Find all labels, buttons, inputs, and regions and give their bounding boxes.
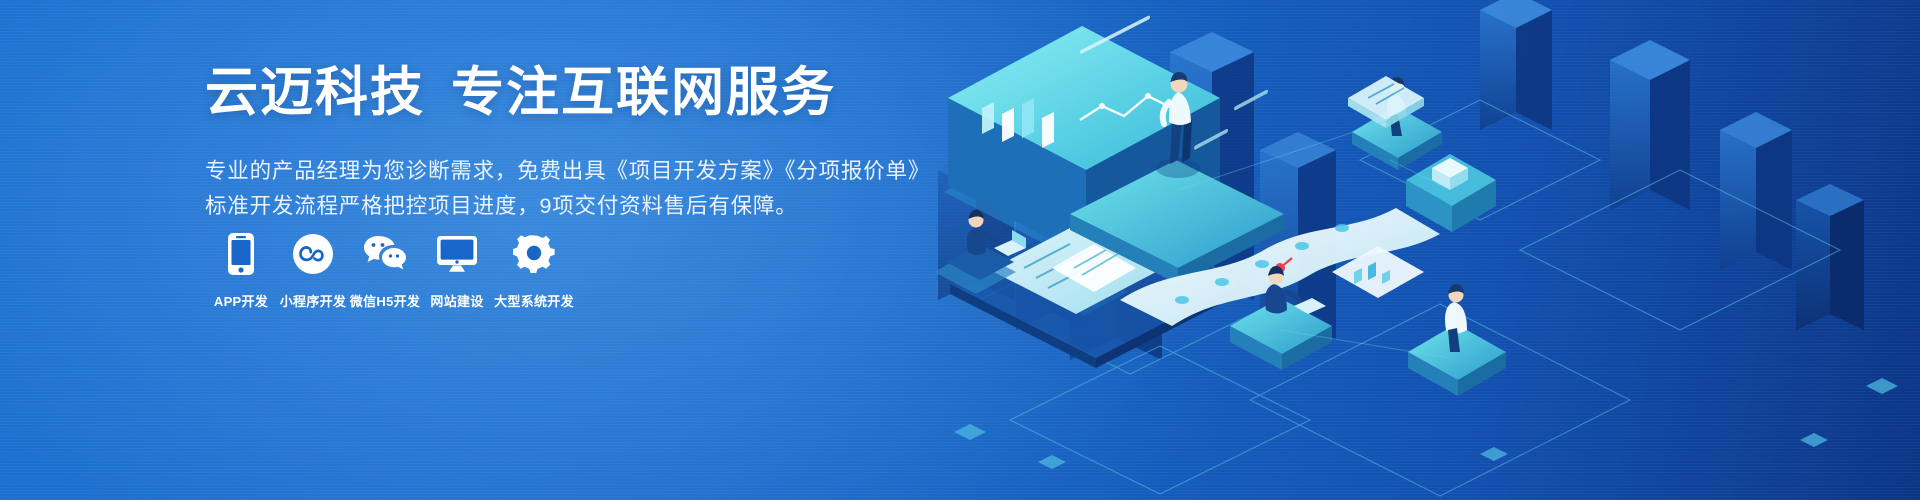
wechat-chat-bubbles-icon <box>363 232 407 276</box>
service-label: 网站建设 <box>430 291 483 310</box>
headline-brand: 云迈科技 <box>205 63 425 122</box>
isometric-tech-illustration <box>920 0 1920 500</box>
banner-text-content: 云迈科技专注互联网服务 专业的产品经理为您诊断需求，免费出具《项目开发方案》《分… <box>205 62 985 224</box>
subtitle-line-1: 专业的产品经理为您诊断需求，免费出具《项目开发方案》《分项报价单》 <box>205 154 985 189</box>
service-item-wechat-h5[interactable]: 微信H5开发 <box>349 232 421 310</box>
promo-banner: 云迈科技专注互联网服务 专业的产品经理为您诊断需求，免费出具《项目开发方案》《分… <box>0 0 1920 500</box>
service-item-app[interactable]: APP开发 <box>205 232 277 310</box>
service-label: 微信H5开发 <box>350 291 420 310</box>
service-label: APP开发 <box>214 291 268 310</box>
page-title: 云迈科技专注互联网服务 <box>205 62 985 125</box>
headline-tagline: 专注互联网服务 <box>451 63 836 122</box>
service-icon-row: APP开发 小程序开发 <box>205 232 575 310</box>
service-item-large-system[interactable]: 大型系统开发 <box>493 232 575 310</box>
subtitle-line-2: 标准开发流程严格把控项目进度，9项交付资料售后有保障。 <box>205 189 985 224</box>
gear-icon <box>512 232 556 276</box>
service-label: 小程序开发 <box>280 291 347 310</box>
service-label: 大型系统开发 <box>494 291 574 310</box>
mini-program-icon <box>291 232 335 276</box>
service-item-mini-program[interactable]: 小程序开发 <box>277 232 349 310</box>
service-item-website[interactable]: 网站建设 <box>421 232 493 310</box>
mobile-phone-icon <box>219 232 263 276</box>
banner-subtitle: 专业的产品经理为您诊断需求，免费出具《项目开发方案》《分项报价单》 标准开发流程… <box>205 154 985 224</box>
desktop-monitor-icon <box>435 232 479 276</box>
